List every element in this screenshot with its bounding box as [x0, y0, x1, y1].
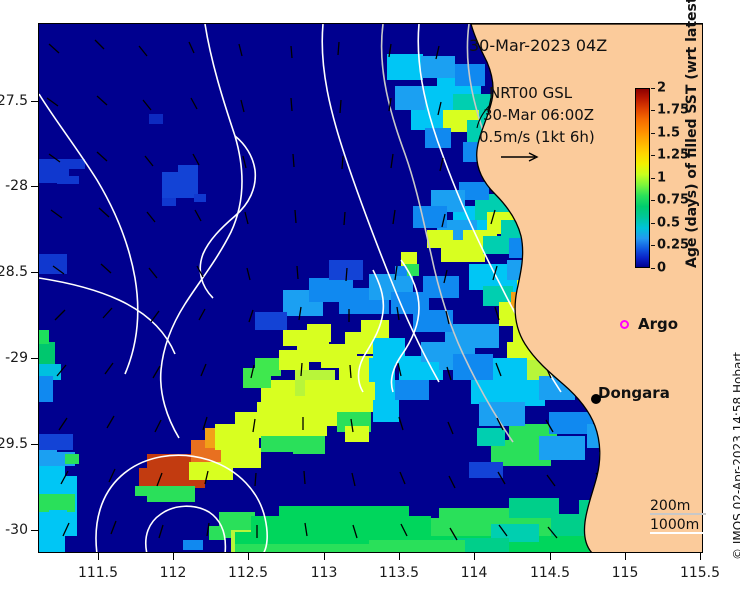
- x-tick: [700, 553, 701, 560]
- x-tick-label: 115: [612, 565, 639, 581]
- vector-scale-arrow: [499, 150, 545, 164]
- argo-marker-icon: [620, 320, 629, 329]
- y-tick-label: -29.5: [0, 436, 28, 452]
- vector-scale-label: 0.5m/s (1kt 6h): [479, 128, 595, 146]
- x-tick-label: 111.5: [78, 565, 118, 581]
- figure-canvas: 30-Mar-2023 04Z NRT00 GSL 30-Mar 06:00Z …: [0, 0, 740, 592]
- x-tick: [173, 553, 174, 560]
- depth-1000m-line-sample: [650, 532, 706, 534]
- y-tick: [31, 101, 38, 102]
- y-tick: [31, 272, 38, 273]
- y-tick: [31, 530, 38, 531]
- x-tick: [550, 553, 551, 560]
- argo-legend-label: Argo: [638, 315, 678, 333]
- y-tick-label: -27.5: [0, 93, 28, 109]
- y-tick-label: -30: [0, 522, 28, 538]
- x-tick-label: 115.5: [680, 565, 720, 581]
- timestamp-label: 30-Mar-2023 04Z: [469, 36, 607, 55]
- y-tick: [31, 358, 38, 359]
- model-time-label: 30-Mar 06:00Z: [483, 106, 594, 124]
- y-tick: [31, 186, 38, 187]
- map-svg: [39, 24, 703, 553]
- x-tick-label: 114: [461, 565, 488, 581]
- x-tick: [625, 553, 626, 560]
- town-marker-icon: [591, 394, 601, 404]
- x-tick-label: 113.5: [379, 565, 419, 581]
- depth-legend-row-200m: 200m: [650, 495, 699, 514]
- map-plot-area[interactable]: 30-Mar-2023 04Z NRT00 GSL 30-Mar 06:00Z …: [38, 23, 703, 553]
- y-tick-label: -28: [0, 178, 28, 194]
- colorbar-tick-label: 0.5: [657, 216, 680, 231]
- y-tick-label: -28.5: [0, 264, 28, 280]
- x-tick: [399, 553, 400, 560]
- town-label: Dongara: [598, 384, 670, 402]
- x-tick: [324, 553, 325, 560]
- colorbar-tick-label: 1.5: [657, 126, 680, 141]
- model-name-label: NRT00 GSL: [489, 84, 572, 102]
- credit-text: © IMOS 02-Apr-2023 14:58 Hobart: [731, 352, 740, 560]
- x-tick-label: 112: [160, 565, 187, 581]
- depth-contour-legend: 200m 1000m: [650, 495, 699, 533]
- x-tick-label: 113: [311, 565, 338, 581]
- x-tick: [248, 553, 249, 560]
- depth-legend-row-1000m: 1000m: [650, 514, 699, 533]
- y-tick-label: -29: [0, 350, 28, 366]
- colorbar-tick-label: 1: [657, 171, 666, 186]
- x-tick-label: 114.5: [530, 565, 570, 581]
- argo-legend: Argo: [620, 315, 678, 333]
- colorbar-tick-label: 0: [657, 261, 666, 276]
- x-tick: [98, 553, 99, 560]
- colorbar-tick-label: 2: [657, 81, 666, 96]
- y-tick: [31, 444, 38, 445]
- colorbar-title: Age (days) of filled SST (wrt latest): [684, 0, 700, 268]
- x-tick: [474, 553, 475, 560]
- colorbar-gradient[interactable]: [635, 88, 650, 268]
- depth-1000m-label: 1000m: [650, 517, 699, 533]
- x-tick-label: 112.5: [228, 565, 268, 581]
- depth-200m-label: 200m: [650, 498, 690, 514]
